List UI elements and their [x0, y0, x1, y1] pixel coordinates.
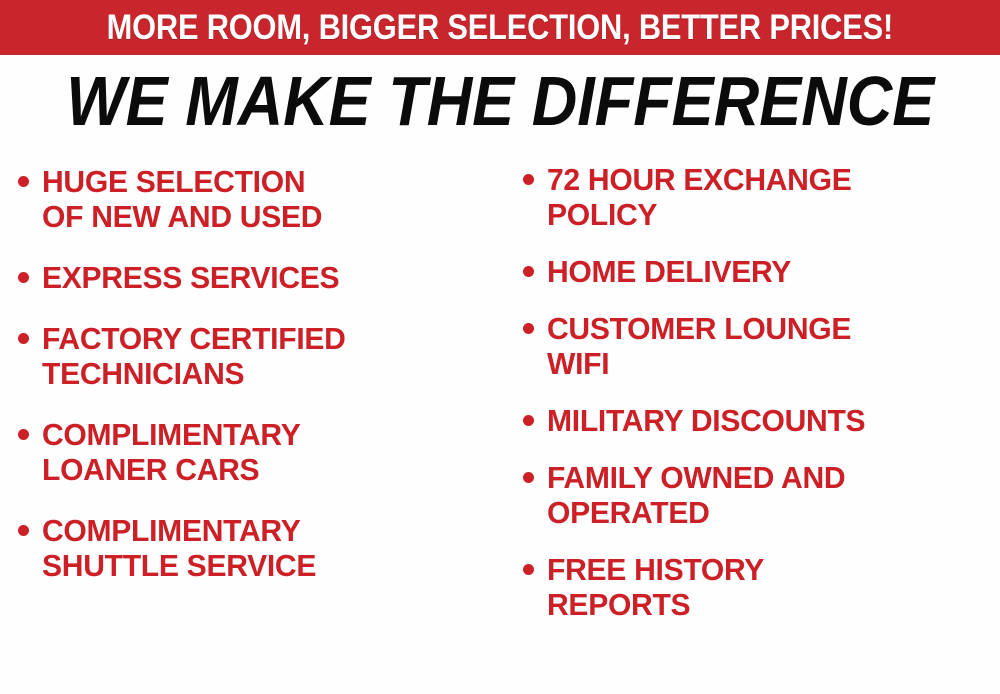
bullet-dot-icon	[18, 429, 29, 440]
bullet-dot-icon	[18, 333, 29, 344]
list-item-label: COMPLIMENTARY LOANER CARS	[42, 417, 491, 487]
bullet-dot-icon	[523, 174, 534, 185]
bullet-dot-icon	[523, 564, 534, 575]
headline-container: WE MAKE THE DIFFERENCE	[0, 62, 1000, 140]
list-item: FAMILY OWNED AND OPERATED	[523, 460, 1000, 530]
list-item-label: HUGE SELECTION OF NEW AND USED	[42, 164, 491, 234]
bullet-dot-icon	[523, 323, 534, 334]
features-column-left: HUGE SELECTION OF NEW AND USED EXPRESS S…	[0, 150, 505, 694]
list-item: COMPLIMENTARY LOANER CARS	[18, 417, 505, 487]
list-item-label: FREE HISTORY REPORTS	[547, 552, 986, 622]
features-columns: HUGE SELECTION OF NEW AND USED EXPRESS S…	[0, 150, 1000, 694]
list-item: EXPRESS SERVICES	[18, 260, 505, 295]
bullet-dot-icon	[18, 176, 29, 187]
list-item: HUGE SELECTION OF NEW AND USED	[18, 164, 505, 234]
list-item-label: FAMILY OWNED AND OPERATED	[547, 460, 986, 530]
list-item-label: EXPRESS SERVICES	[42, 260, 491, 295]
promo-banner: MORE ROOM, BIGGER SELECTION, BETTER PRIC…	[0, 0, 1000, 55]
list-item: FACTORY CERTIFIED TECHNICIANS	[18, 321, 505, 391]
list-item: FREE HISTORY REPORTS	[523, 552, 1000, 622]
bullet-dot-icon	[18, 525, 29, 536]
features-column-right: 72 HOUR EXCHANGE POLICY HOME DELIVERY CU…	[505, 150, 1000, 694]
bullet-dot-icon	[523, 415, 534, 426]
list-item: MILITARY DISCOUNTS	[523, 403, 1000, 438]
list-item-label: HOME DELIVERY	[547, 254, 986, 289]
list-item: HOME DELIVERY	[523, 254, 1000, 289]
banner-headline: MORE ROOM, BIGGER SELECTION, BETTER PRIC…	[107, 10, 893, 46]
list-item: COMPLIMENTARY SHUTTLE SERVICE	[18, 513, 505, 583]
list-item-label: 72 HOUR EXCHANGE POLICY	[547, 162, 986, 232]
list-item-label: CUSTOMER LOUNGE WIFI	[547, 311, 986, 381]
bullet-dot-icon	[523, 472, 534, 483]
list-item: CUSTOMER LOUNGE WIFI	[523, 311, 1000, 381]
list-item-label: COMPLIMENTARY SHUTTLE SERVICE	[42, 513, 491, 583]
list-item: 72 HOUR EXCHANGE POLICY	[523, 162, 1000, 232]
promo-poster: MORE ROOM, BIGGER SELECTION, BETTER PRIC…	[0, 0, 1000, 694]
list-item-label: FACTORY CERTIFIED TECHNICIANS	[42, 321, 491, 391]
list-item-label: MILITARY DISCOUNTS	[547, 403, 986, 438]
page-title: WE MAKE THE DIFFERENCE	[66, 65, 934, 137]
bullet-dot-icon	[523, 266, 534, 277]
bullet-dot-icon	[18, 272, 29, 283]
